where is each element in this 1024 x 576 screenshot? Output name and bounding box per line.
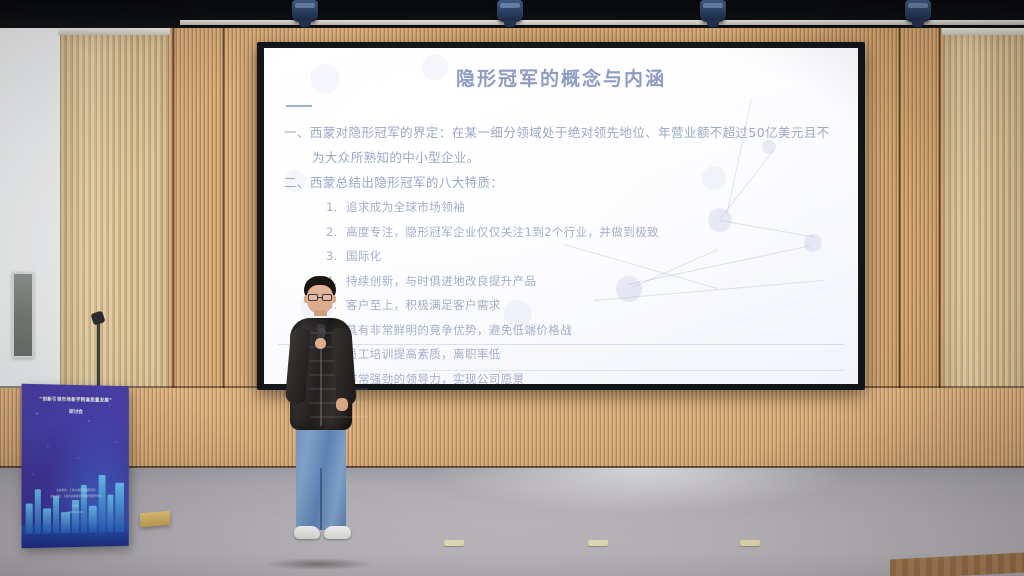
slide-subitem-number: 1. bbox=[326, 195, 346, 220]
spotlight-icon bbox=[700, 0, 726, 22]
banner-date: 2023.11.18 bbox=[46, 511, 104, 516]
slide-subitem-text: 国际化 bbox=[346, 249, 382, 263]
slide-item: 二、西蒙总结出隐形冠军的八大特质： bbox=[284, 170, 844, 195]
slide-item-text: 西蒙对隐形冠军的界定：在某一细分领域处于绝对领先地位、年营业额不超过50亿美元且… bbox=[310, 125, 830, 140]
banner-building bbox=[115, 483, 124, 532]
slide-item-marker: 一、 bbox=[284, 120, 310, 145]
slide-item-text: 为大众所熟知的中小型企业。 bbox=[312, 150, 480, 165]
event-banner: “创新引领市场新学院高质量发展” 研讨会 主办单位：上海xx创新发展研究院 承办… bbox=[22, 384, 129, 549]
banner-organizer: 上海市 bbox=[46, 505, 104, 510]
presenter-shoe-right bbox=[324, 526, 351, 539]
slide-subitem-number: 3. bbox=[326, 244, 346, 269]
slide-item-text: 西蒙总结出隐形冠军的八大特质： bbox=[310, 175, 504, 190]
presenter-hand-right bbox=[336, 398, 348, 411]
slide-item-marker: 二、 bbox=[284, 170, 310, 195]
photo-scene: 隐形冠军的概念与内涵 一、西蒙对隐形冠军的界定：在某一细分领域处于绝对领先地位、… bbox=[0, 0, 1024, 576]
slide-subitem-text: 高度专注，隐形冠军企业仅仅关注1到2个行业，并做到极致 bbox=[346, 225, 659, 239]
floor-marker bbox=[444, 540, 464, 546]
slide-subitem: 4.持续创新，与时俱进地改良提升产品 bbox=[284, 269, 844, 294]
lower-wood-wainscot bbox=[0, 388, 1024, 474]
slide-subitem: 6.具有非常鲜明的竞争优势，避免低端价格战 bbox=[284, 318, 844, 343]
microphone-stand bbox=[97, 320, 100, 390]
jacket-quilt-line bbox=[310, 416, 368, 418]
presenter bbox=[272, 276, 368, 568]
floor-marker bbox=[588, 540, 608, 546]
slide-subitem-text: 员工培训提高素质，离职率低 bbox=[346, 347, 501, 361]
slide-subitem: 2.高度专注，隐形冠军企业仅仅关注1到2个行业，并做到极致 bbox=[284, 220, 844, 245]
spotlight-icon bbox=[497, 0, 523, 22]
floor-prop-box bbox=[140, 511, 170, 528]
presenter-leg-seam bbox=[320, 468, 322, 530]
slide-subitem: 3.国际化 bbox=[284, 244, 844, 269]
slide-item: 一、西蒙对隐形冠军的界定：在某一细分领域处于绝对领先地位、年营业额不超过50亿美… bbox=[284, 120, 844, 145]
wall-vent bbox=[12, 272, 34, 358]
curtain-rail-right bbox=[942, 28, 1024, 35]
slide-subitem-text: 具有非常鲜明的竞争优势，避免低端价格战 bbox=[346, 323, 572, 337]
glasses-icon bbox=[308, 294, 318, 301]
floor-marker bbox=[740, 540, 760, 546]
curtain-rail-left bbox=[58, 28, 170, 35]
slide-subitem: 1.追求成为全球市场领袖 bbox=[284, 195, 844, 220]
glasses-icon bbox=[322, 294, 332, 301]
banner-building bbox=[26, 503, 33, 534]
presenter-shadow bbox=[264, 558, 374, 570]
presenter-shoe-left bbox=[294, 526, 320, 539]
banner-building bbox=[61, 512, 70, 533]
glasses-bridge-icon bbox=[318, 297, 322, 298]
slide-title: 隐形冠军的概念与内涵 bbox=[264, 64, 858, 91]
slide-subitem-text: 非常强劲的领导力，实现公司愿景 bbox=[346, 372, 525, 385]
slide-subitem-text: 持续创新，与时俱进地改良提升产品 bbox=[346, 274, 536, 288]
title-accent-dash bbox=[286, 105, 312, 107]
slide-subitem: 5.客户至上，积极满足客户需求 bbox=[284, 293, 844, 318]
slide-subitem-number: 2. bbox=[326, 220, 346, 245]
banner-building bbox=[107, 495, 113, 533]
spotlight-icon bbox=[905, 0, 931, 22]
banner-meta-line2: 承办单位：上海市高新技术企业协会服务中心 bbox=[40, 495, 111, 500]
floor-reflection bbox=[430, 468, 850, 512]
slide-subitem-text: 追求成为全球市场领袖 bbox=[346, 200, 465, 214]
slide-divider-secondary bbox=[414, 370, 844, 371]
slide-subitem: 7.员工培训提高素质，离职率低 bbox=[284, 342, 844, 367]
slide-item: 为大众所熟知的中小型企业。 bbox=[284, 145, 844, 170]
slide-subitem-text: 客户至上，积极满足客户需求 bbox=[346, 298, 501, 312]
banner-meta-line1: 主办单位：上海xx创新发展研究院 bbox=[40, 489, 111, 494]
spotlight-icon bbox=[292, 0, 318, 22]
presenter-hand-holding-mic bbox=[315, 338, 326, 349]
presenter-arm-right bbox=[331, 327, 356, 406]
